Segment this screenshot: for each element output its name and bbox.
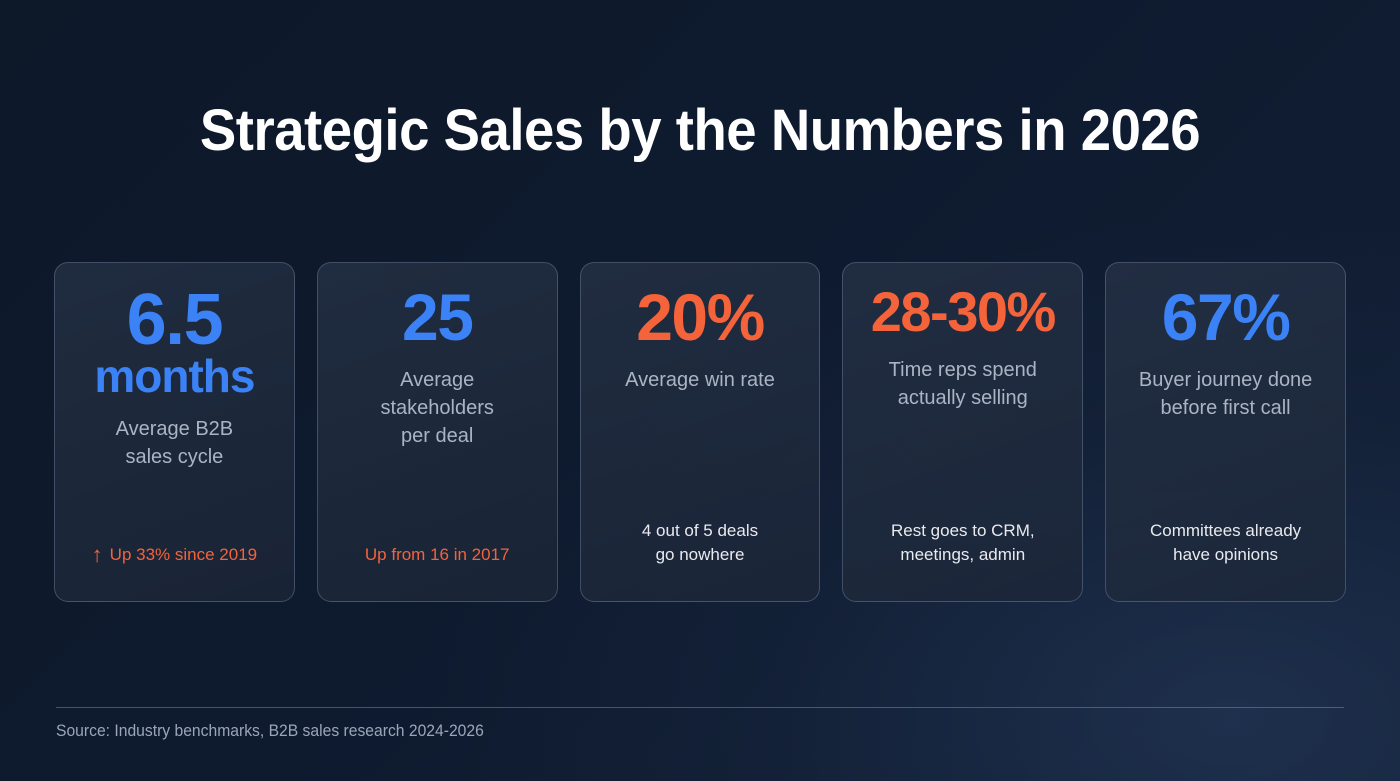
stat-label: Average win rate bbox=[625, 366, 775, 394]
stat-note: Rest goes to CRM, meetings, admin bbox=[853, 519, 1072, 567]
stat-note-text: Up 33% since 2019 bbox=[110, 543, 257, 567]
stat-card: 28-30%Time reps spend actually sellingRe… bbox=[842, 262, 1083, 602]
infographic-page: Strategic Sales by the Numbers in 2026 6… bbox=[0, 0, 1400, 781]
stat-card: 6.5monthsAverage B2B sales cycle↑Up 33% … bbox=[54, 262, 295, 602]
arrow-up-icon: ↑ bbox=[92, 544, 103, 566]
stat-card: 25Average stakeholders per dealUp from 1… bbox=[317, 262, 558, 602]
footer-source-text: Source: Industry benchmarks, B2B sales r… bbox=[56, 720, 484, 742]
page-title: Strategic Sales by the Numbers in 2026 bbox=[42, 99, 1358, 163]
stat-label: Average stakeholders per deal bbox=[380, 366, 493, 450]
stat-label: Time reps spend actually selling bbox=[889, 356, 1037, 412]
stat-note: Up from 16 in 2017 bbox=[328, 543, 547, 567]
stat-note-text: Rest goes to CRM, meetings, admin bbox=[891, 519, 1035, 567]
stat-card: 67%Buyer journey done before first callC… bbox=[1105, 262, 1346, 602]
stat-value: 20% bbox=[636, 285, 764, 350]
stat-zone: 20%Average win rate bbox=[591, 285, 810, 394]
stat-note: 4 out of 5 deals go nowhere bbox=[591, 519, 810, 567]
stat-zone: 67%Buyer journey done before first call bbox=[1116, 285, 1335, 422]
footer-divider bbox=[56, 707, 1344, 708]
stat-note-text: Committees already have opinions bbox=[1150, 519, 1301, 567]
stat-value: 25 bbox=[402, 285, 472, 350]
stat-zone: 28-30%Time reps spend actually selling bbox=[853, 285, 1072, 412]
stat-zone: 25Average stakeholders per deal bbox=[328, 285, 547, 450]
stat-unit: months bbox=[94, 354, 254, 399]
stat-card-row: 6.5monthsAverage B2B sales cycle↑Up 33% … bbox=[54, 262, 1346, 602]
stat-value: 6.5months bbox=[94, 285, 254, 399]
stat-value: 67% bbox=[1162, 285, 1290, 350]
stat-note: ↑Up 33% since 2019 bbox=[65, 543, 284, 567]
stat-zone: 6.5monthsAverage B2B sales cycle bbox=[65, 285, 284, 471]
stat-note-text: 4 out of 5 deals go nowhere bbox=[642, 519, 758, 567]
stat-label: Average B2B sales cycle bbox=[116, 415, 234, 471]
stat-card: 20%Average win rate4 out of 5 deals go n… bbox=[580, 262, 821, 602]
stat-note: Committees already have opinions bbox=[1116, 519, 1335, 567]
stat-note-text: Up from 16 in 2017 bbox=[365, 543, 510, 567]
stat-value: 28-30% bbox=[871, 285, 1055, 340]
stat-label: Buyer journey done before first call bbox=[1139, 366, 1312, 422]
